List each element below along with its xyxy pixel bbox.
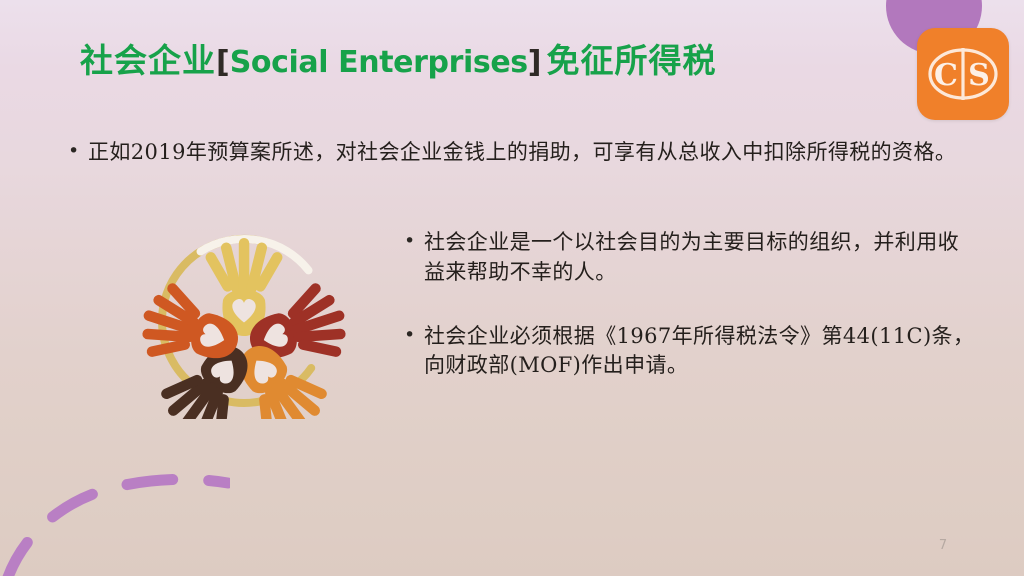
title-chinese-suffix: 免征所得税 <box>547 41 717 80</box>
title-bracket-close: ] <box>528 45 542 80</box>
bullet-marker-icon: • <box>68 138 88 165</box>
right-bullet-text-2: 社会企业必须根据《1967年所得税法令》第44(11C)条，向财政部(MOF)作… <box>424 322 980 382</box>
list-item: • 正如2019年预算案所述，对社会企业金钱上的捐助，可享有从总收入中扣除所得税… <box>68 138 968 168</box>
bullet-marker-icon: • <box>404 228 424 255</box>
page-number: 7 <box>928 538 958 553</box>
right-bullet-list: • 社会企业是一个以社会目的为主要目标的组织，并利用收益来帮助不幸的人。 • 社… <box>404 228 980 381</box>
title-english: Social Enterprises <box>230 45 528 80</box>
title-chinese-prefix: 社会企业 <box>80 41 216 80</box>
svg-text:C: C <box>934 58 958 93</box>
list-item: • 社会企业是一个以社会目的为主要目标的组织，并利用收益来帮助不幸的人。 <box>404 228 980 288</box>
decorative-dashed-arc <box>0 455 230 576</box>
slide-title: 社会企业[Social Enterprises] 免征所得税 <box>80 44 900 78</box>
title-bracket-open: [ <box>216 45 230 80</box>
company-logo: C S <box>917 28 1009 120</box>
top-bullet-text: 正如2019年预算案所述，对社会企业金钱上的捐助，可享有从总收入中扣除所得税的资… <box>88 138 956 168</box>
right-bullet-text-1: 社会企业是一个以社会目的为主要目标的组织，并利用收益来帮助不幸的人。 <box>424 228 980 288</box>
five-hands-circle-icon <box>124 224 364 419</box>
svg-text:S: S <box>968 58 990 93</box>
bullet-marker-icon: • <box>404 322 424 349</box>
top-bullet-block: • 正如2019年预算案所述，对社会企业金钱上的捐助，可享有从总收入中扣除所得税… <box>68 138 968 168</box>
slide-canvas: C S 社会企业[Social Enterprises] 免征所得税 • 正如2… <box>0 0 1024 576</box>
list-item: • 社会企业必须根据《1967年所得税法令》第44(11C)条，向财政部(MOF… <box>404 322 980 382</box>
